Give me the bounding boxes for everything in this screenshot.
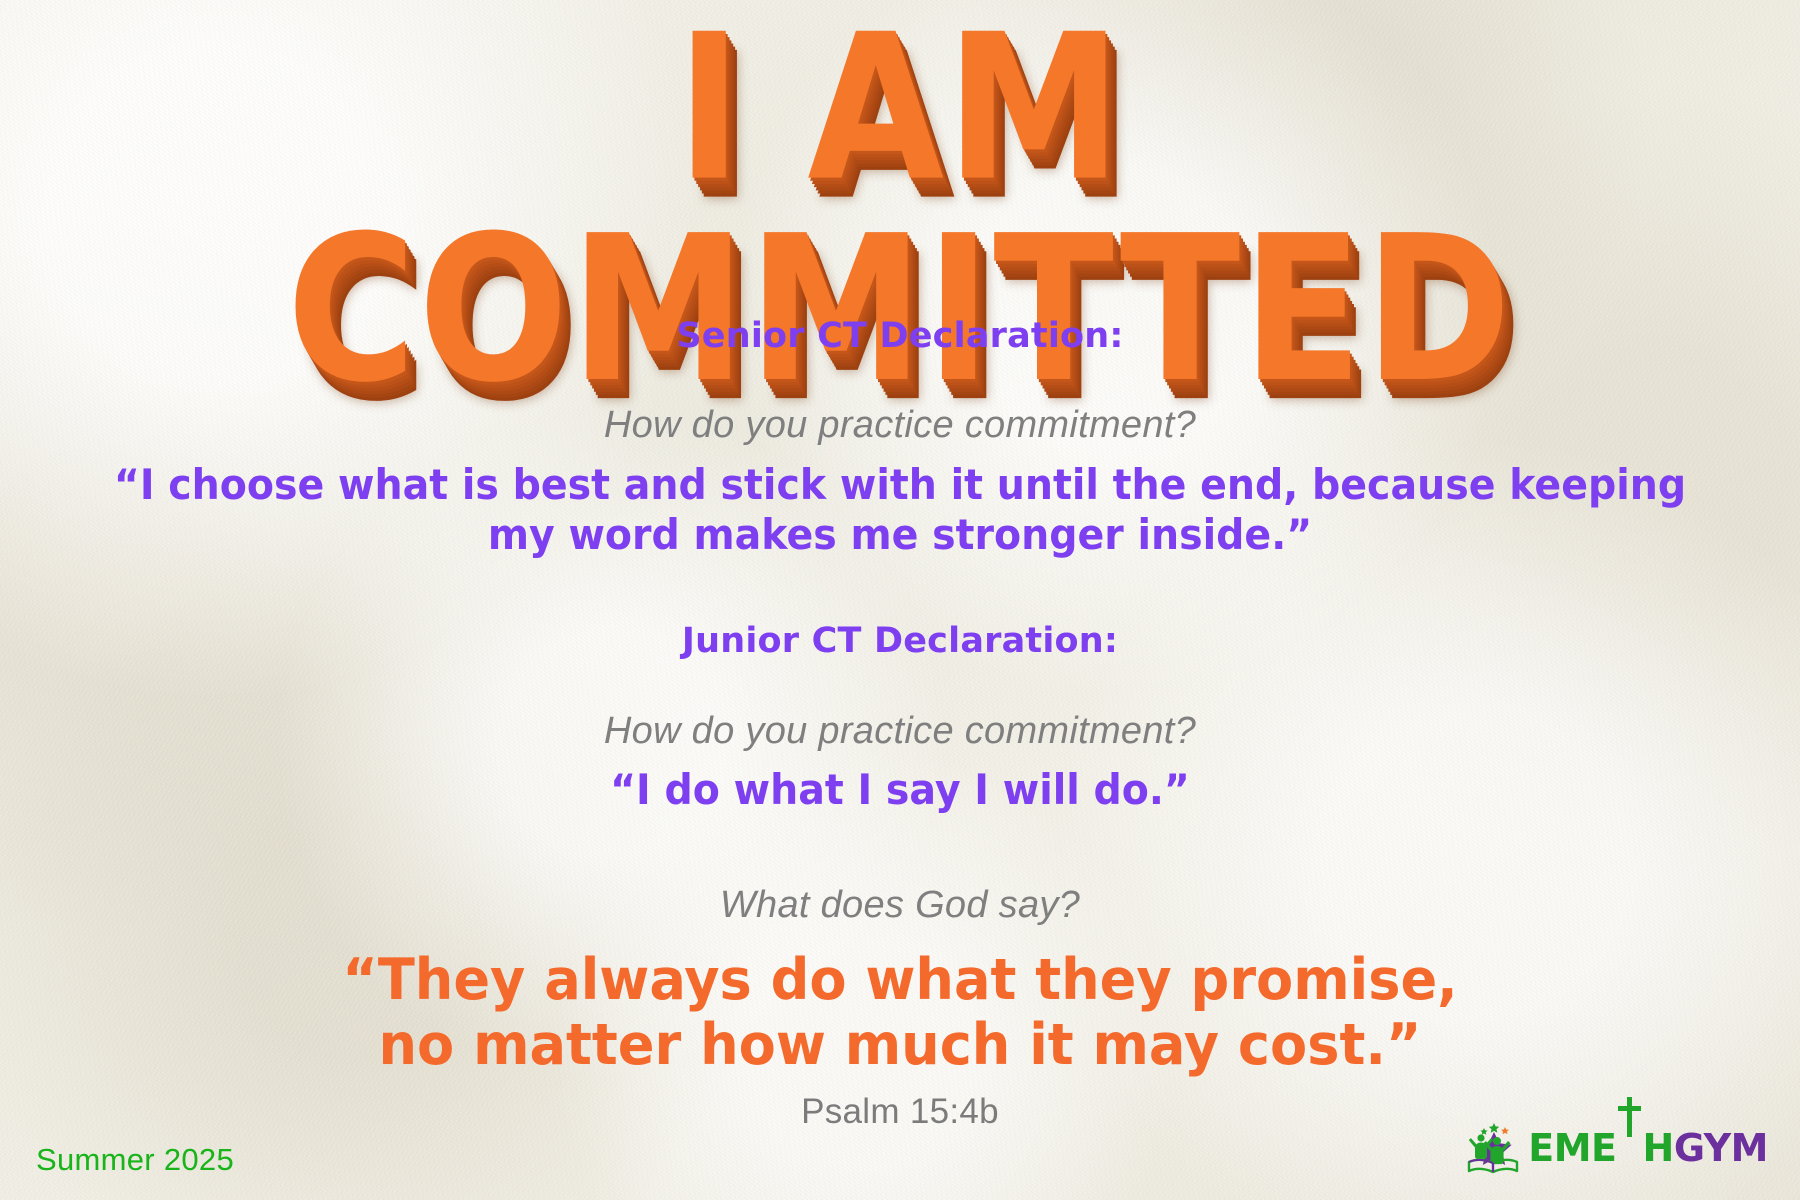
- junior-declaration-heading: Junior CT Declaration:: [0, 621, 1800, 661]
- logo-word-eme: EME: [1528, 1129, 1616, 1167]
- emeth-gym-wordmark: EME T H GYM: [1528, 1129, 1768, 1167]
- scripture-question-row: What does God say?: [0, 884, 1800, 927]
- junior-quote-row: “I do what I say I will do.”: [0, 765, 1800, 815]
- junior-declaration-heading-row: Junior CT Declaration:: [0, 621, 1800, 661]
- emeth-gym-logo[interactable]: EME T H GYM: [1464, 1120, 1768, 1176]
- senior-declaration-heading: Senior CT Declaration:: [0, 316, 1800, 356]
- cross-icon: T: [1617, 1129, 1643, 1167]
- junior-question-text: How do you practice commitment?: [0, 710, 1800, 753]
- logo-word-gym: GYM: [1674, 1129, 1768, 1167]
- senior-question-text: How do you practice commitment?: [0, 404, 1800, 447]
- slide-canvas: I AM COMMITTED Senior CT Declaration: Ho…: [0, 0, 1800, 1200]
- logo-word-h: H: [1643, 1129, 1674, 1167]
- season-label: Summer 2025: [36, 1142, 234, 1178]
- senior-question-row: How do you practice commitment?: [0, 404, 1800, 447]
- scripture-quote-row: “They always do what they promise, no ma…: [0, 948, 1800, 1078]
- junior-question-row: How do you practice commitment?: [0, 710, 1800, 753]
- scripture-question-text: What does God say?: [0, 884, 1800, 927]
- senior-declaration-heading-row: Senior CT Declaration:: [0, 316, 1800, 356]
- junior-quote-text: “I do what I say I will do.”: [308, 765, 1492, 815]
- senior-quote-text: “I choose what is best and stick with it…: [82, 460, 1718, 559]
- senior-quote-row: “I choose what is best and stick with it…: [0, 460, 1800, 559]
- scripture-quote-text: “They always do what they promise, no ma…: [302, 948, 1499, 1078]
- star-figures-book-icon: [1464, 1120, 1524, 1176]
